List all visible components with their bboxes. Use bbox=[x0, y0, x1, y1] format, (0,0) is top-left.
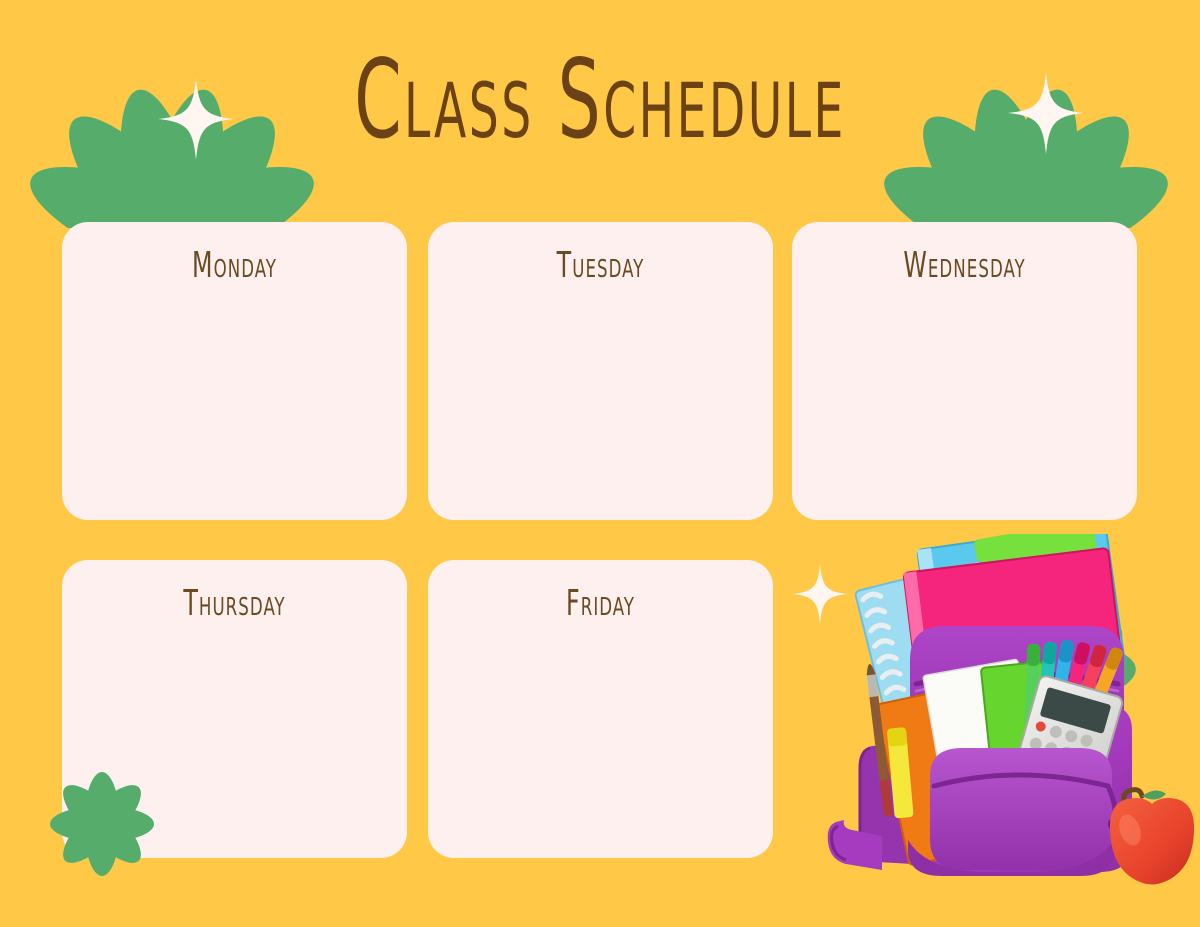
poster-canvas: Class Schedule Monday Tuesday Wednesday … bbox=[0, 0, 1200, 927]
sparkle-icon bbox=[158, 78, 234, 160]
sparkle-icon bbox=[792, 564, 848, 624]
day-card-label: Friday bbox=[449, 586, 753, 622]
sparkle-icon bbox=[1008, 72, 1084, 154]
backpack-icon bbox=[812, 534, 1200, 894]
flower-icon bbox=[32, 758, 172, 890]
day-card-friday[interactable]: Friday bbox=[428, 560, 773, 858]
day-card-label: Tuesday bbox=[449, 248, 753, 284]
day-card-wednesday[interactable]: Wednesday bbox=[792, 222, 1137, 520]
day-card-monday[interactable]: Monday bbox=[62, 222, 407, 520]
day-card-label: Monday bbox=[83, 248, 387, 284]
day-card-label: Wednesday bbox=[813, 248, 1117, 284]
day-card-tuesday[interactable]: Tuesday bbox=[428, 222, 773, 520]
page-title: Class Schedule bbox=[108, 46, 1092, 155]
day-card-label: Thursday bbox=[83, 586, 387, 622]
